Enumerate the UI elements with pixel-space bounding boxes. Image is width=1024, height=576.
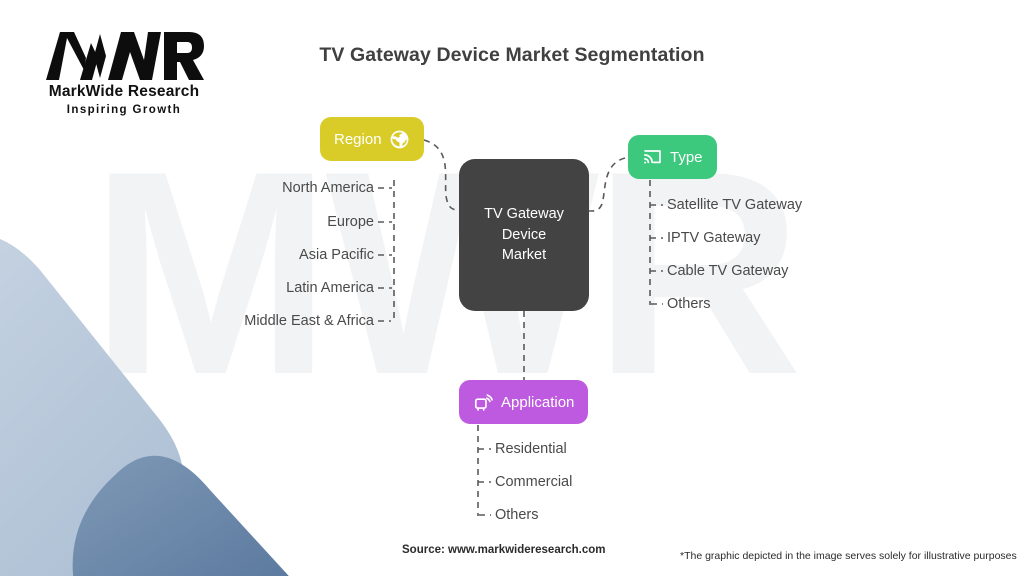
branch-badge-type[interactable]: Type bbox=[628, 135, 717, 179]
cast-screen-icon bbox=[642, 147, 663, 168]
branch-badge-region[interactable]: Region bbox=[320, 117, 424, 161]
center-node[interactable]: TV Gateway Device Market bbox=[459, 159, 589, 311]
tv-antenna-icon bbox=[473, 392, 494, 413]
globe-icon bbox=[389, 129, 410, 150]
branch-label-application: Application bbox=[501, 394, 574, 411]
branch-label-type: Type bbox=[670, 149, 703, 166]
branch-badge-application[interactable]: Application bbox=[459, 380, 588, 424]
center-node-line1: TV Gateway bbox=[484, 204, 564, 225]
connector-type-to-center bbox=[589, 158, 625, 211]
center-node-line2: Device bbox=[484, 225, 564, 246]
connector-region-to-center bbox=[424, 140, 459, 210]
branch-label-region: Region bbox=[334, 131, 382, 148]
infographic-canvas: MWR bbox=[0, 0, 1024, 576]
center-node-line3: Market bbox=[484, 245, 564, 266]
